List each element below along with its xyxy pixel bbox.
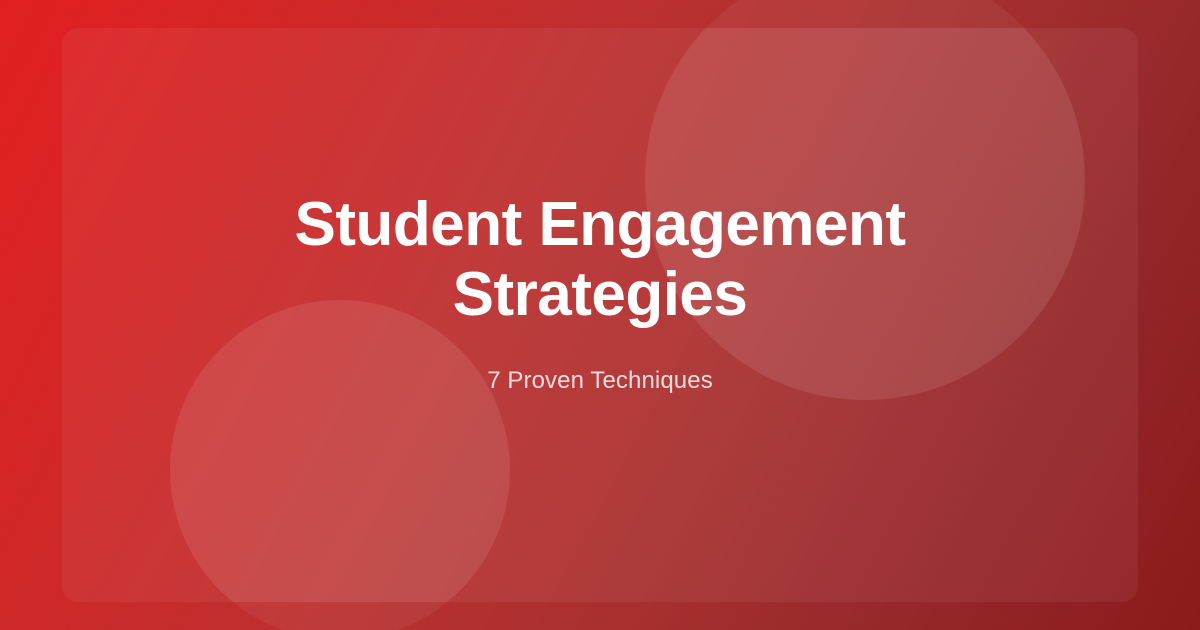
slide-subtitle: 7 Proven Techniques [487, 365, 713, 396]
slide-content: Student Engagement Strategies 7 Proven T… [0, 0, 1200, 630]
title-slide: Student Engagement Strategies 7 Proven T… [0, 0, 1200, 630]
slide-text-block: Student Engagement Strategies 7 Proven T… [250, 190, 950, 397]
slide-title: Student Engagement Strategies [250, 190, 950, 331]
